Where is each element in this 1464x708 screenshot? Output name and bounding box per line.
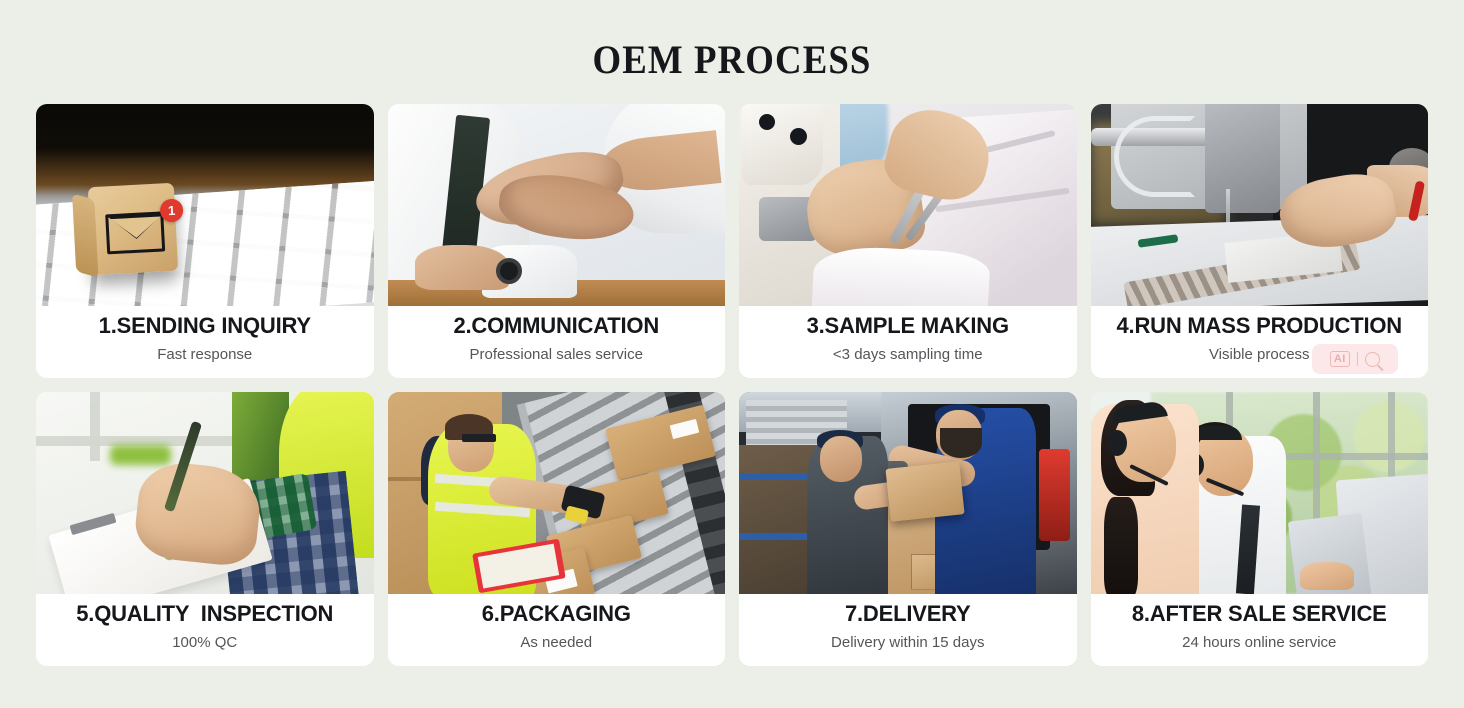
wooden-cube-shape: 1 [88, 183, 178, 275]
process-card-7[interactable]: 7.DELIVERY Delivery within 15 days [739, 392, 1077, 666]
fabric-shape-lower [812, 245, 991, 306]
foliage-blur-shape [110, 445, 171, 465]
resting-hand-shape [415, 245, 510, 289]
card-image-communication [388, 104, 726, 306]
card-image-quality-inspection [36, 392, 374, 594]
oem-process-page: OEM PROCESS 1 1.SENDING INQUIRY Fast res… [0, 0, 1464, 708]
card-title: 7.DELIVERY [845, 600, 971, 628]
machine-head-shape [1205, 104, 1279, 213]
card-body-1: 1.SENDING INQUIRY Fast response [36, 306, 374, 378]
card-subtitle: Visible process [1209, 345, 1310, 365]
card-image-sending-inquiry: 1 [36, 104, 374, 306]
card-subtitle: Professional sales service [470, 345, 643, 365]
tail-light-shape [1039, 449, 1069, 542]
card-subtitle: Delivery within 15 days [831, 633, 984, 653]
process-card-2[interactable]: 2.COMMUNICATION Professional sales servi… [388, 104, 726, 378]
card-title: 1.SENDING INQUIRY [99, 312, 311, 340]
card-body-6: 6.PACKAGING As needed [388, 594, 726, 666]
card-image-delivery [739, 392, 1077, 594]
card-subtitle: <3 days sampling time [833, 345, 983, 365]
card-image-sample-making [739, 104, 1077, 306]
machine-knob-2 [790, 128, 807, 145]
page-title: OEM PROCESS [92, 0, 1373, 82]
process-card-1[interactable]: 1 1.SENDING INQUIRY Fast response [36, 104, 374, 378]
process-card-8[interactable]: 8.AFTER SALE SERVICE 24 hours online ser… [1091, 392, 1429, 666]
card-title: 5.QUALITY INSPECTION [76, 600, 333, 628]
card-subtitle: Fast response [157, 345, 252, 365]
card-body-5: 5.QUALITY INSPECTION 100% QC [36, 594, 374, 666]
glasses-shape [462, 434, 496, 442]
card-body-3: 3.SAMPLE MAKING <3 days sampling time [739, 306, 1077, 378]
ai-search-watermark: AI [1312, 344, 1398, 374]
air-tube-shape [1114, 116, 1195, 197]
typing-hand-shape [1300, 562, 1354, 590]
envelope-icon [105, 211, 165, 254]
magnifier-icon [1365, 352, 1380, 367]
card-image-after-sale-service [1091, 392, 1429, 594]
agent-female-ponytail-shape [1104, 497, 1138, 594]
process-card-4[interactable]: 4.RUN MASS PRODUCTION Visible process AI [1091, 104, 1429, 378]
card-image-run-mass-production [1091, 104, 1429, 306]
window-frame-v [90, 392, 100, 461]
watermark-divider [1357, 352, 1358, 366]
card-subtitle: As needed [520, 633, 592, 653]
process-cards-grid: 1 1.SENDING INQUIRY Fast response [36, 104, 1428, 666]
card-subtitle: 100% QC [172, 633, 237, 653]
card-body-7: 7.DELIVERY Delivery within 15 days [739, 594, 1077, 666]
card-body-2: 2.COMMUNICATION Professional sales servi… [388, 306, 726, 378]
card-image-packaging [388, 392, 726, 594]
handed-box-shape [885, 461, 964, 521]
card-body-4: 4.RUN MASS PRODUCTION Visible process AI [1091, 306, 1429, 378]
card-title: 6.PACKAGING [482, 600, 631, 628]
wristwatch-shape [496, 258, 522, 284]
worker-left-head-shape [820, 436, 862, 482]
card-title: 4.RUN MASS PRODUCTION [1117, 312, 1403, 340]
sewing-machine-top [742, 104, 823, 185]
process-card-5[interactable]: 5.QUALITY INSPECTION 100% QC [36, 392, 374, 666]
card-title: 2.COMMUNICATION [453, 312, 659, 340]
card-subtitle: 24 hours online service [1182, 633, 1336, 653]
agent-male-headset-band [1192, 426, 1242, 440]
process-card-6[interactable]: 6.PACKAGING As needed [388, 392, 726, 666]
card-body-8: 8.AFTER SALE SERVICE 24 hours online ser… [1091, 594, 1429, 666]
ai-icon: AI [1330, 351, 1350, 367]
card-title: 3.SAMPLE MAKING [807, 312, 1009, 340]
card-title: 8.AFTER SALE SERVICE [1132, 600, 1387, 628]
process-card-3[interactable]: 3.SAMPLE MAKING <3 days sampling time [739, 104, 1077, 378]
